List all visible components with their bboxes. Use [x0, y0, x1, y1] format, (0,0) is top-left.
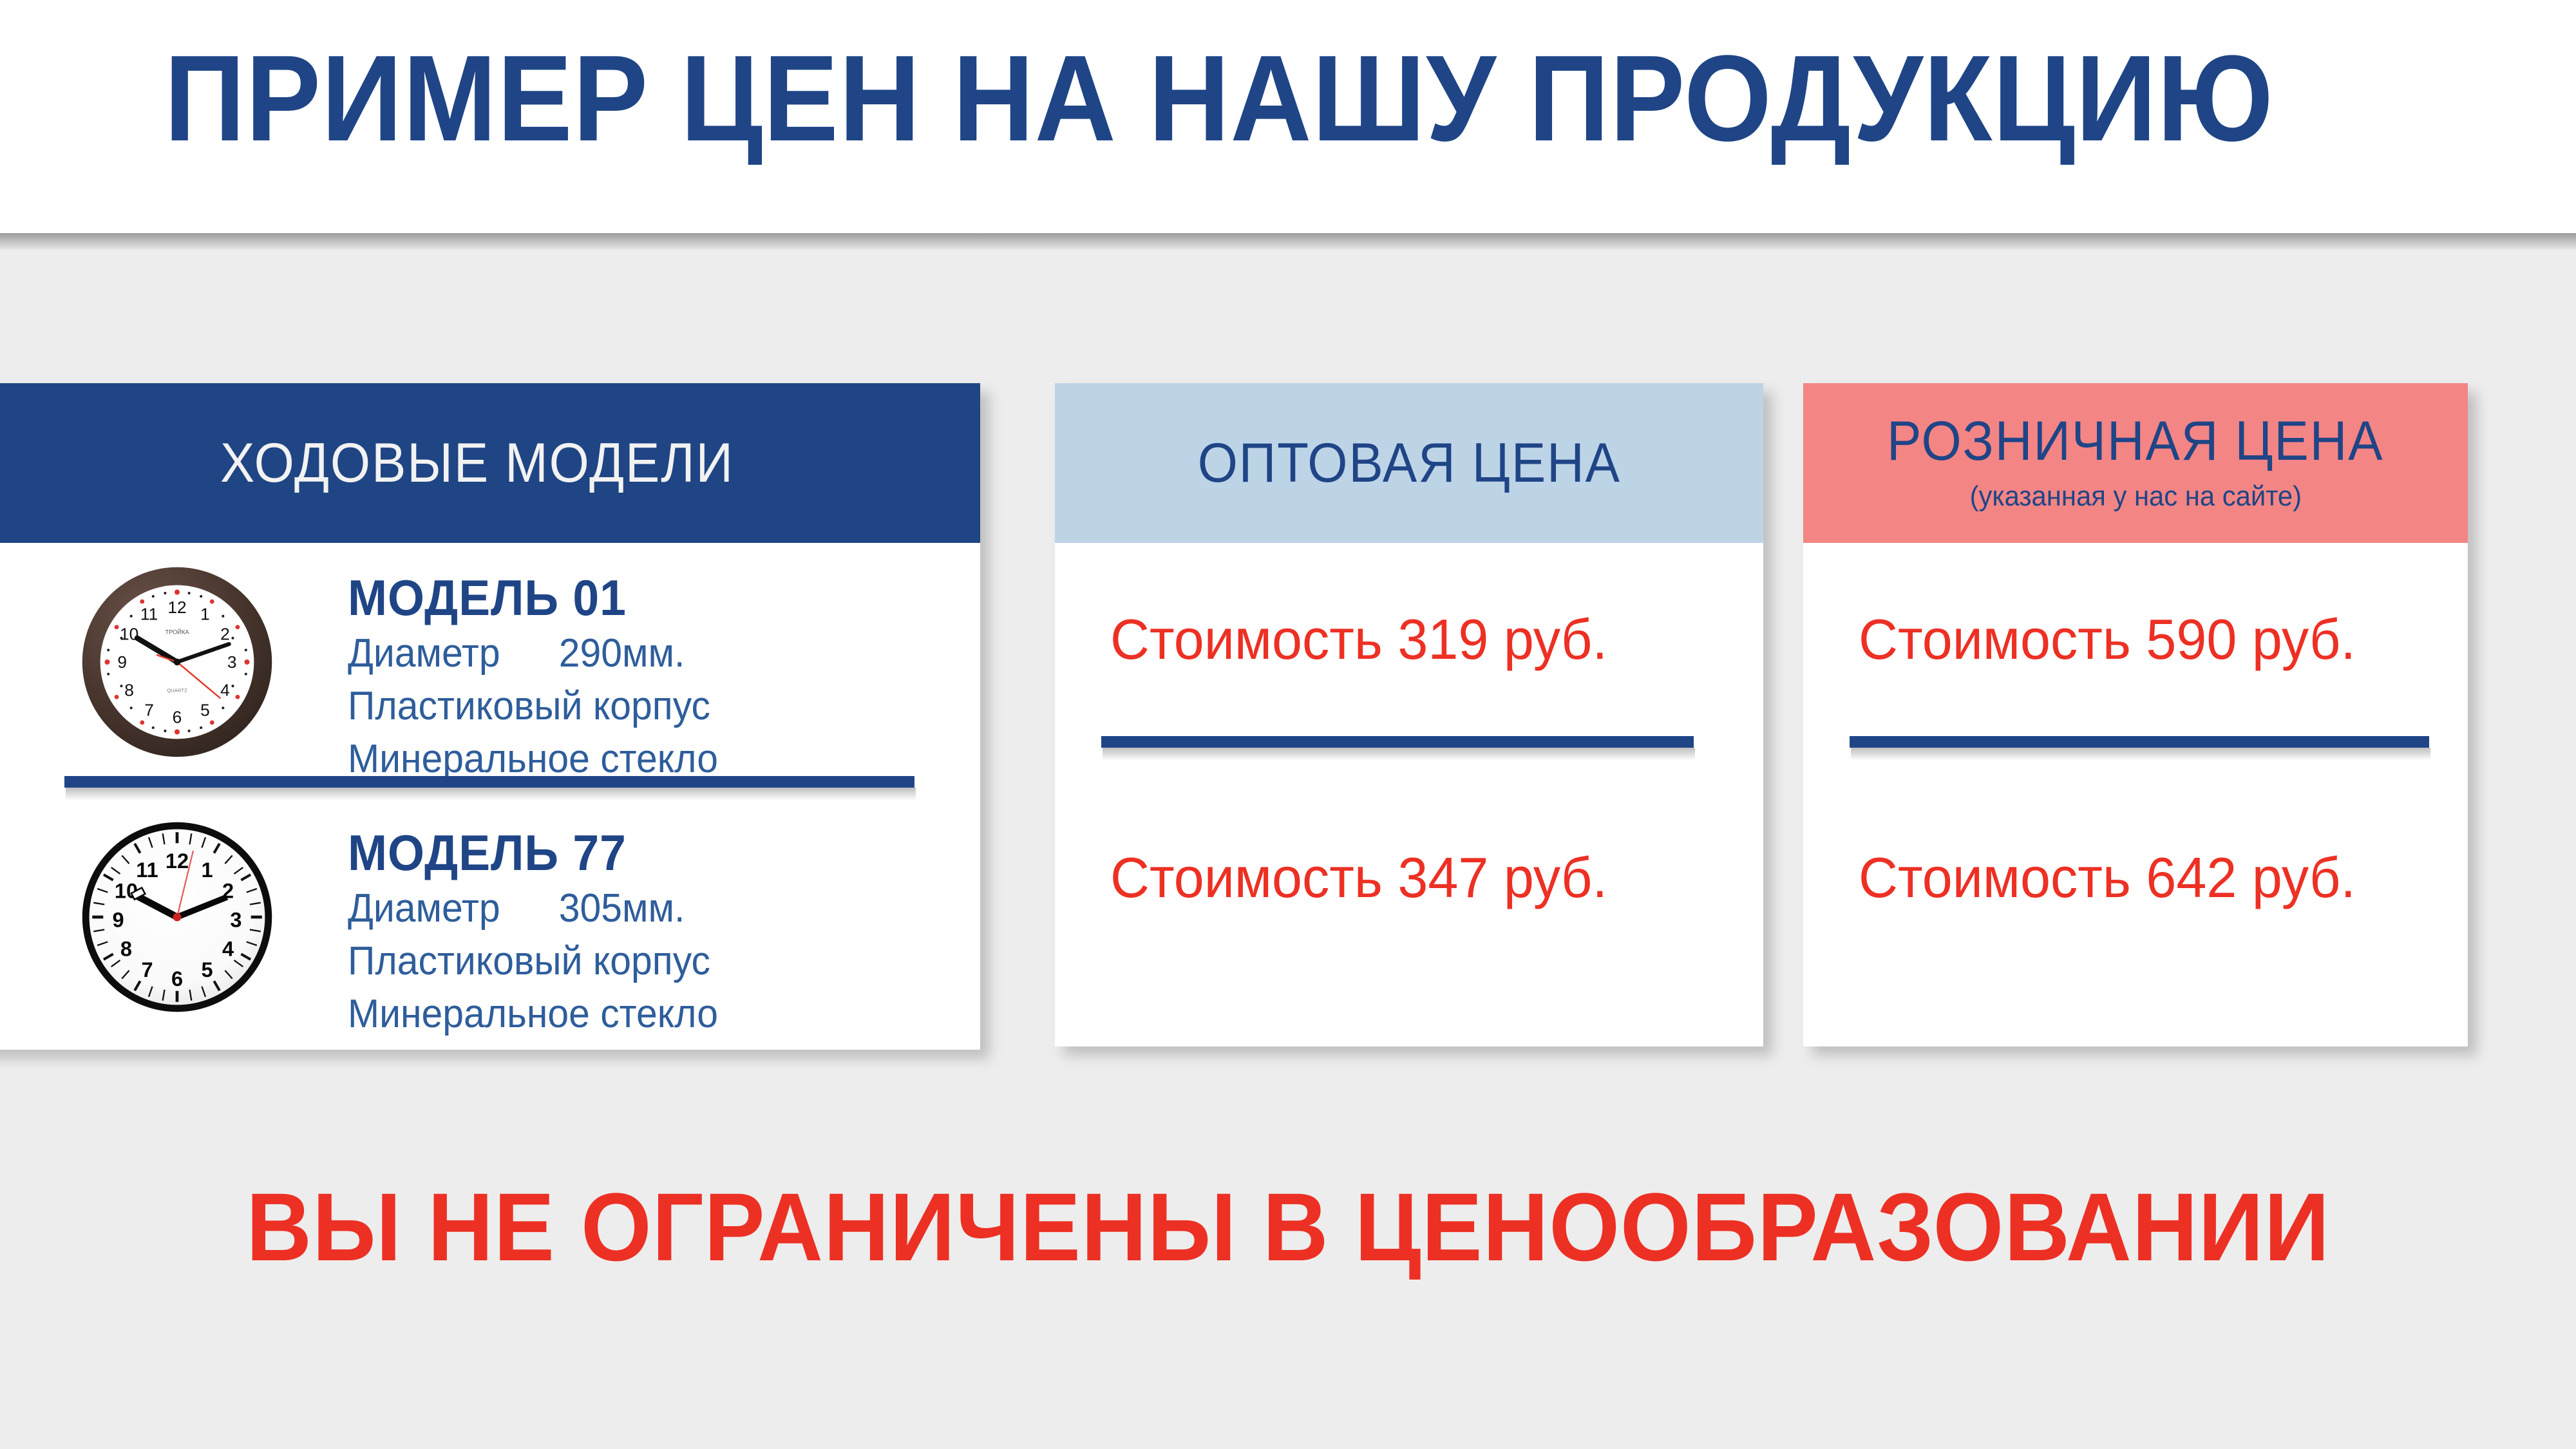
bottom-banner-text: ВЫ НЕ ОГРАНИЧЕНЫ В ЦЕНООБРАЗОВАНИИ — [246, 1179, 2330, 1275]
wall-clock-brown-bezel-icon: 121 23 45 67 89 1011 ТРОЙКА QUARTZ — [64, 562, 290, 762]
svg-text:9: 9 — [112, 909, 124, 932]
svg-text:5: 5 — [200, 700, 210, 719]
slide-root: ПРИМЕР ЦЕН НА НАШУ ПРОДУКЦИЮ ХОДОВЫЕ МОД… — [0, 0, 2576, 1449]
page-title: ПРИМЕР ЦЕН НА НАШУ ПРОДУКЦИЮ — [164, 37, 2274, 160]
svg-text:3: 3 — [227, 652, 237, 672]
svg-text:12: 12 — [166, 849, 189, 873]
retail-price-value: Стоимость 642 руб. — [1859, 845, 2356, 911]
card-models[interactable]: ХОДОВЫЕ МОДЕЛИ — [0, 383, 980, 1050]
model-spec-diameter-value: 290мм. — [559, 627, 685, 680]
card-models-header-label: ХОДОВЫЕ МОДЕЛИ — [220, 435, 734, 491]
card-retail-header-label: РОЗНИЧНАЯ ЦЕНА — [1887, 413, 2383, 469]
svg-text:8: 8 — [124, 680, 134, 699]
svg-text:11: 11 — [136, 858, 158, 882]
svg-text:1: 1 — [201, 858, 213, 882]
svg-text:4: 4 — [220, 680, 230, 699]
wholesale-price-value: Стоимость 347 руб. — [1110, 845, 1607, 911]
model-spec-diameter-label: Диаметр — [348, 882, 500, 935]
svg-text:7: 7 — [141, 958, 153, 981]
price-row: Стоимость 347 руб. — [1055, 775, 1763, 981]
model-text-block: МОДЕЛЬ 77 Диаметр305мм. Пластиковый корп… — [348, 824, 737, 1040]
svg-text:12: 12 — [167, 598, 186, 617]
svg-text:4: 4 — [222, 938, 234, 961]
price-row: Стоимость 590 руб. — [1803, 543, 2468, 736]
svg-text:6: 6 — [171, 967, 183, 990]
svg-text:QUARTZ: QUARTZ — [167, 688, 187, 694]
price-row: Стоимость 642 руб. — [1803, 775, 2468, 981]
cards-row: ХОДОВЫЕ МОДЕЛИ — [0, 383, 2576, 1053]
card-retail-price[interactable]: РОЗНИЧНАЯ ЦЕНА (указанная у нас на сайте… — [1803, 383, 2468, 1046]
svg-text:1: 1 — [200, 605, 210, 624]
card-wholesale-header: ОПТОВАЯ ЦЕНА — [1055, 383, 1763, 543]
price-row: Стоимость 319 руб. — [1055, 543, 1763, 736]
model-text-block: МОДЕЛЬ 01 Диаметр290мм. Пластиковый корп… — [348, 569, 737, 785]
svg-text:8: 8 — [120, 938, 132, 961]
model-spec-body: Пластиковый корпус — [348, 935, 718, 988]
model-spec-diameter-value: 305мм. — [559, 882, 685, 935]
model-spec-glass: Минеральное стекло — [348, 988, 718, 1041]
wholesale-price-value: Стоимость 319 руб. — [1110, 607, 1607, 672]
wall-clock-black-bezel-icon: 121 23 45 67 89 1011 — [64, 817, 290, 1017]
model-name: МОДЕЛЬ 01 — [348, 569, 714, 627]
model-spec-diameter: Диаметр305мм. — [348, 882, 718, 935]
retail-price-value: Стоимость 590 руб. — [1859, 607, 2356, 672]
card-retail-header: РОЗНИЧНАЯ ЦЕНА (указанная у нас на сайте… — [1803, 383, 2468, 543]
model-row[interactable]: 121 23 45 67 89 1011 ТРОЙКА QUARTZ — [0, 557, 980, 776]
bottom-banner: ВЫ НЕ ОГРАНИЧЕНЫ В ЦЕНООБРАЗОВАНИИ — [0, 1179, 2576, 1275]
card-models-header: ХОДОВЫЕ МОДЕЛИ — [0, 383, 980, 543]
model-spec-diameter-label: Диаметр — [348, 627, 500, 680]
card-wholesale-header-label: ОПТОВАЯ ЦЕНА — [1197, 435, 1620, 491]
svg-text:10: 10 — [120, 625, 138, 644]
model-spec-diameter: Диаметр290мм. — [348, 627, 718, 680]
svg-text:6: 6 — [173, 707, 182, 726]
svg-text:11: 11 — [140, 605, 158, 624]
svg-text:ТРОЙКА: ТРОЙКА — [165, 629, 189, 636]
model-name: МОДЕЛЬ 77 — [348, 824, 714, 882]
svg-text:5: 5 — [201, 958, 213, 981]
model-row[interactable]: 121 23 45 67 89 1011 — [0, 812, 980, 1031]
title-band: ПРИМЕР ЦЕН НА НАШУ ПРОДУКЦИЮ — [0, 0, 2576, 233]
svg-text:7: 7 — [144, 700, 154, 719]
card-wholesale-price[interactable]: ОПТОВАЯ ЦЕНА Стоимость 319 руб. Стоимост… — [1055, 383, 1763, 1046]
card-retail-subheader: (указанная у нас на сайте) — [1969, 480, 2302, 513]
model-spec-body: Пластиковый корпус — [348, 680, 718, 733]
svg-text:2: 2 — [220, 625, 230, 644]
svg-text:9: 9 — [117, 652, 127, 672]
svg-text:3: 3 — [230, 909, 241, 932]
